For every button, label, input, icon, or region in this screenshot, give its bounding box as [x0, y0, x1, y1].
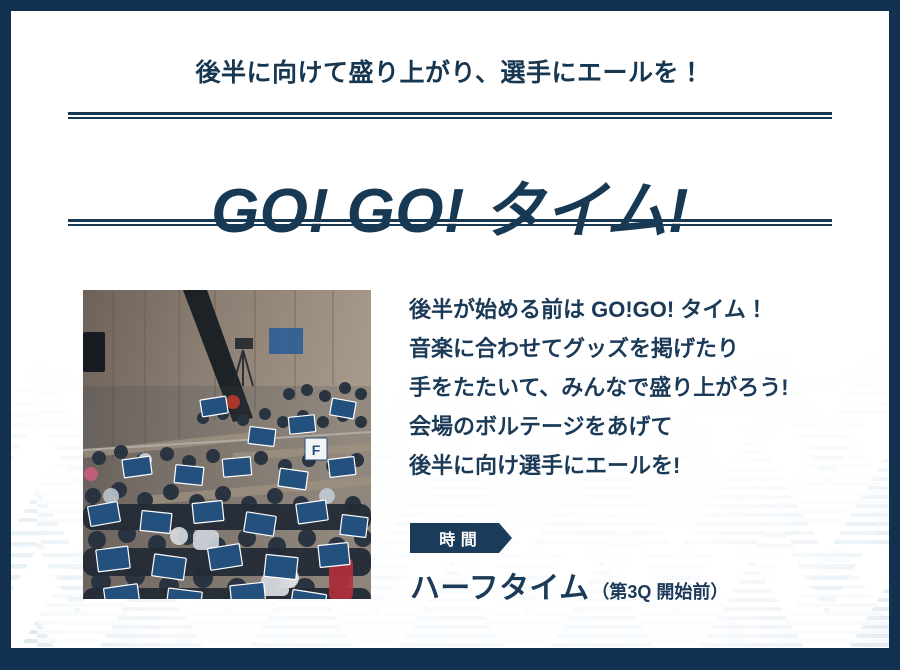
description-line: 後半に向け選手にエールを! — [409, 446, 879, 485]
description-line: 手をたたいて、みんなで盛り上がろう! — [409, 368, 879, 407]
page-title: GO! GO! タイム! — [11, 176, 889, 248]
svg-text:F: F — [312, 442, 321, 458]
crowd-photo: F — [83, 290, 371, 599]
time-label-badge: 時間 — [410, 523, 512, 553]
description-line: 会場のボルテージをあげて — [409, 407, 879, 446]
description-block: 後半が始める前は GO!GO! タイム！ 音楽に合わせてグッズを掲げたり 手をた… — [409, 290, 879, 485]
time-value-main: ハーフタイム — [410, 563, 589, 607]
time-value-note: （第3Q 開始前） — [591, 578, 728, 604]
divider-bottom — [68, 219, 832, 226]
divider-top — [68, 112, 832, 119]
time-value: ハーフタイム （第3Q 開始前） — [410, 563, 728, 607]
page-kicker: 後半に向けて盛り上がり、選手にエールを！ — [11, 53, 889, 89]
promo-card: 後半に向けて盛り上がり、選手にエールを！ GO! GO! タイム! — [0, 0, 900, 670]
description-line: 音楽に合わせてグッズを掲げたり — [409, 329, 879, 368]
description-line: 後半が始める前は GO!GO! タイム！ — [409, 290, 879, 329]
